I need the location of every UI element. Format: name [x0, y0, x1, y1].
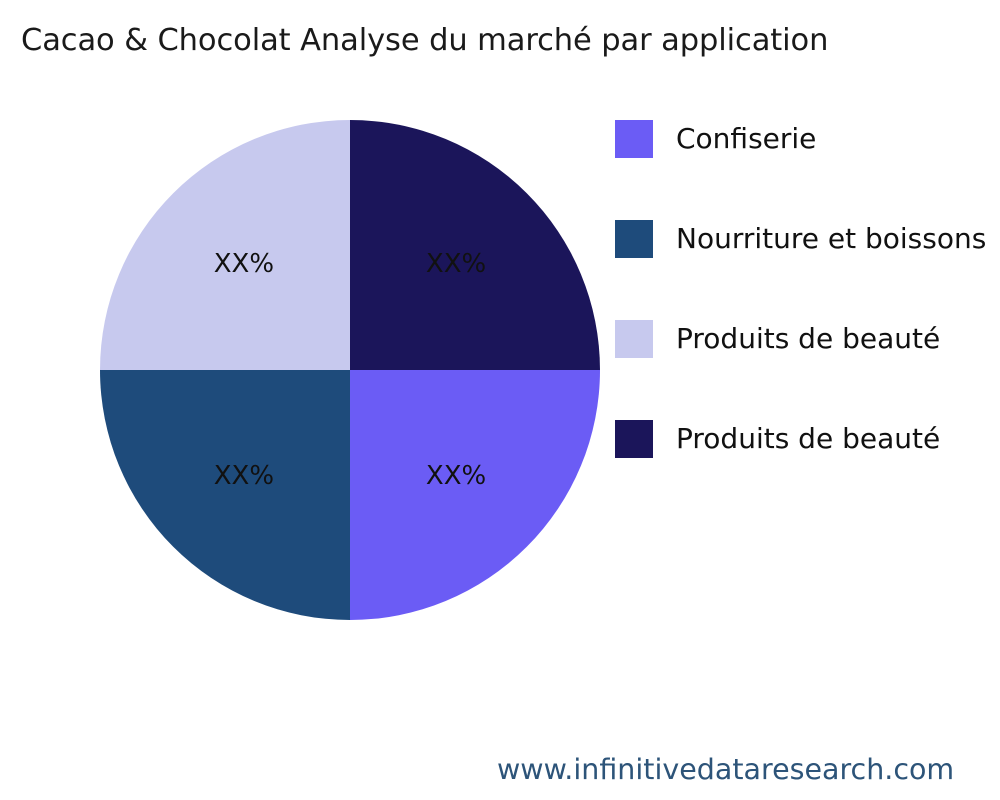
legend-item[interactable]: Produits de beauté — [615, 420, 940, 458]
pie-slice[interactable] — [350, 120, 600, 370]
legend-item-label: Nourriture et boissons — [676, 220, 986, 258]
legend-item-label: Confiserie — [676, 120, 816, 158]
pie-slice-value-label: XX% — [214, 463, 274, 489]
legend: ConfiserieNourriture et boissonsProduits… — [615, 120, 1000, 460]
pie-svg — [0, 0, 700, 720]
pie-chart-figure: Cacao & Chocolat Analyse du marché par a… — [0, 0, 1000, 800]
legend-color-swatch — [615, 120, 653, 158]
legend-item-label: Produits de beauté — [676, 320, 940, 358]
legend-color-swatch — [615, 420, 653, 458]
legend-color-swatch — [615, 220, 653, 258]
legend-item[interactable]: Nourriture et boissons — [615, 220, 986, 258]
legend-color-swatch — [615, 320, 653, 358]
pie-slice-group — [100, 120, 600, 620]
legend-item[interactable]: Confiserie — [615, 120, 816, 158]
legend-item[interactable]: Produits de beauté — [615, 320, 940, 358]
pie-plot-area: XX%XX%XX%XX% — [0, 0, 700, 720]
pie-slice-value-label: XX% — [426, 463, 486, 489]
pie-slice[interactable] — [350, 370, 600, 620]
pie-slice-value-label: XX% — [426, 251, 486, 277]
pie-slice[interactable] — [100, 370, 350, 620]
pie-slice-value-label: XX% — [214, 251, 274, 277]
legend-item-label: Produits de beauté — [676, 420, 940, 458]
footer-source-url[interactable]: www.infinitivedataresearch.com — [497, 753, 954, 787]
pie-slice[interactable] — [100, 120, 350, 370]
